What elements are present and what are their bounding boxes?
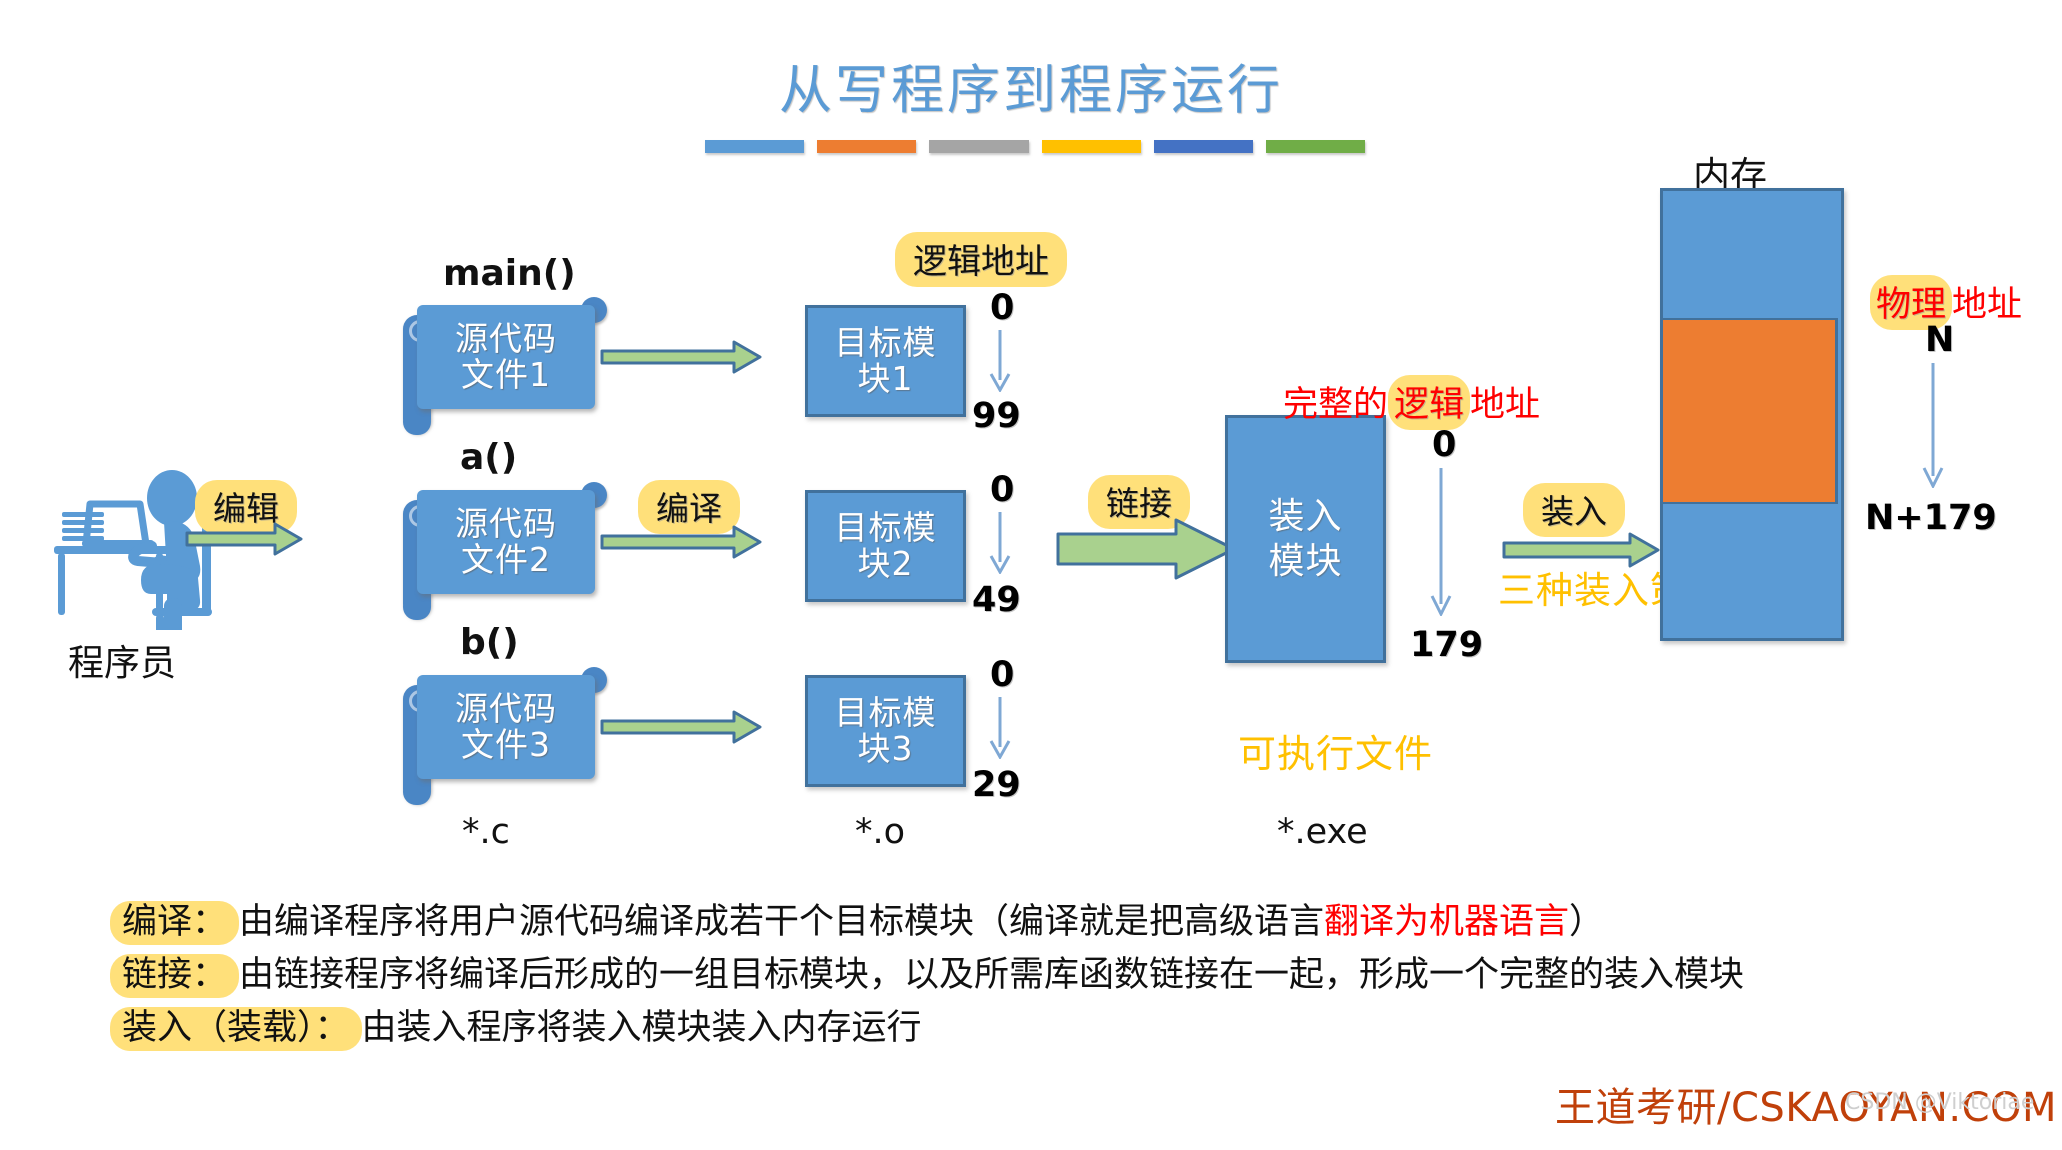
object-module-1-range-arrow-icon [985, 330, 1015, 396]
watermark: CSDN @Viktoriae [1845, 1090, 2034, 1115]
object-module-3: 目标模 块3 [805, 675, 966, 787]
note-1-term: 编译： [110, 901, 239, 945]
note-row-3: 装入（装载）：由装入程序将装入模块装入内存运行 [110, 999, 922, 1050]
object-module-2: 目标模 块2 [805, 490, 966, 602]
object-module-2-line2: 块2 [858, 546, 914, 582]
full-logical-address-label: 完整的逻辑地址 [1283, 375, 1540, 430]
source-file-2-line2: 文件2 [461, 542, 551, 578]
rule-segment-2 [817, 140, 916, 153]
load-module-range-arrow-icon [1426, 468, 1456, 620]
object-module-2-addr-end: 49 [972, 580, 1021, 620]
note-row-2: 链接：由链接程序将编译后形成的一组目标模块，以及所需库函数链接在一起，形成一个完… [110, 946, 1744, 997]
note-1-body-after: ） [1569, 902, 1604, 942]
scroll-curl-bottom [403, 779, 431, 805]
link-arrow-icon [1056, 518, 1236, 584]
edit-arrow-icon [185, 520, 303, 562]
source-extension-label: *.c [462, 812, 510, 852]
rule-segment-4 [1042, 140, 1141, 153]
object-module-3-line1: 目标模 [835, 695, 937, 731]
note-1-body-red: 翻译为机器语言 [1324, 902, 1569, 942]
compile-arrow-icon-2 [600, 523, 762, 565]
object-module-3-line2: 块3 [858, 731, 914, 767]
full-logical-prefix: 完整的 [1283, 385, 1388, 425]
load-module-addr-start: 0 [1432, 425, 1456, 465]
source-func-label-3: b() [460, 622, 519, 663]
rule-segment-5 [1154, 140, 1253, 153]
object-module-2-range-arrow-icon [985, 512, 1015, 578]
source-file-3: 源代码 文件3 [395, 675, 605, 807]
title-decorative-rule [705, 140, 1365, 153]
object-module-3-addr-end: 29 [972, 765, 1021, 805]
scroll-curl-bottom [403, 594, 431, 620]
note-2-term: 链接： [110, 954, 239, 998]
source-file-2: 源代码 文件2 [395, 490, 605, 622]
note-1-body-before: 由编译程序将用户源代码编译成若干个目标模块（编译就是把高级语言 [239, 902, 1324, 942]
memory-range-arrow-icon [1918, 363, 1948, 492]
programmer-label: 程序员 [68, 634, 176, 686]
memory-addr-start: N [1925, 320, 1954, 360]
page-title: 从写程序到程序运行 [0, 48, 2062, 124]
object-module-1-line1: 目标模 [835, 325, 937, 361]
rule-segment-1 [705, 140, 804, 153]
memory-addr-end: N+179 [1865, 498, 1997, 538]
executable-file-label: 可执行文件 [1238, 723, 1433, 778]
object-module-1-addr-start: 0 [990, 288, 1014, 328]
object-module-3-range-arrow-icon [985, 697, 1015, 763]
load-step-label: 装入 [1523, 483, 1625, 537]
source-file-3-line1: 源代码 [455, 691, 557, 727]
object-module-1-line2: 块1 [858, 361, 914, 397]
load-module-addr-end: 179 [1410, 625, 1483, 665]
source-file-2-body: 源代码 文件2 [417, 490, 595, 594]
note-row-1: 编译：由编译程序将用户源代码编译成若干个目标模块（编译就是把高级语言翻译为机器语… [110, 893, 1604, 944]
source-file-1-line2: 文件1 [461, 357, 551, 393]
rule-segment-3 [929, 140, 1028, 153]
source-file-3-body: 源代码 文件3 [417, 675, 595, 779]
full-logical-highlight: 逻辑 [1388, 375, 1470, 430]
source-file-1-body: 源代码 文件1 [417, 305, 595, 409]
source-file-1: 源代码 文件1 [395, 305, 605, 437]
logical-address-label: 逻辑地址 [895, 232, 1067, 287]
memory-occupied-block [1660, 318, 1838, 504]
compile-arrow-icon-1 [600, 338, 762, 380]
object-module-1-addr-end: 99 [972, 396, 1021, 436]
scroll-curl-bottom [403, 409, 431, 435]
load-module-line2: 模块 [1268, 539, 1342, 584]
source-file-3-line2: 文件3 [461, 727, 551, 763]
source-file-1-line1: 源代码 [455, 321, 557, 357]
source-func-label-2: a() [460, 437, 517, 478]
object-module-2-addr-start: 0 [990, 470, 1014, 510]
load-module-extension-label: *.exe [1277, 812, 1368, 852]
rule-segment-6 [1266, 140, 1365, 153]
compile-arrow-icon-3 [600, 708, 762, 750]
object-extension-label: *.o [855, 812, 905, 852]
note-2-body-before: 由链接程序将编译后形成的一组目标模块，以及所需库函数链接在一起，形成一个完整的装… [239, 955, 1744, 995]
object-module-3-addr-start: 0 [990, 655, 1014, 695]
physical-address-suffix: 地址 [1952, 285, 2022, 325]
note-3-body-before: 由装入程序将装入模块装入内存运行 [362, 1008, 922, 1048]
object-module-2-line1: 目标模 [835, 510, 937, 546]
load-module-line1: 装入 [1268, 494, 1342, 539]
load-module-box: 装入 模块 [1225, 415, 1386, 663]
full-logical-suffix: 地址 [1470, 385, 1540, 425]
source-func-label-1: main() [443, 253, 576, 294]
source-file-2-line1: 源代码 [455, 506, 557, 542]
object-module-1: 目标模 块1 [805, 305, 966, 417]
note-3-term: 装入（装载）： [110, 1007, 362, 1051]
